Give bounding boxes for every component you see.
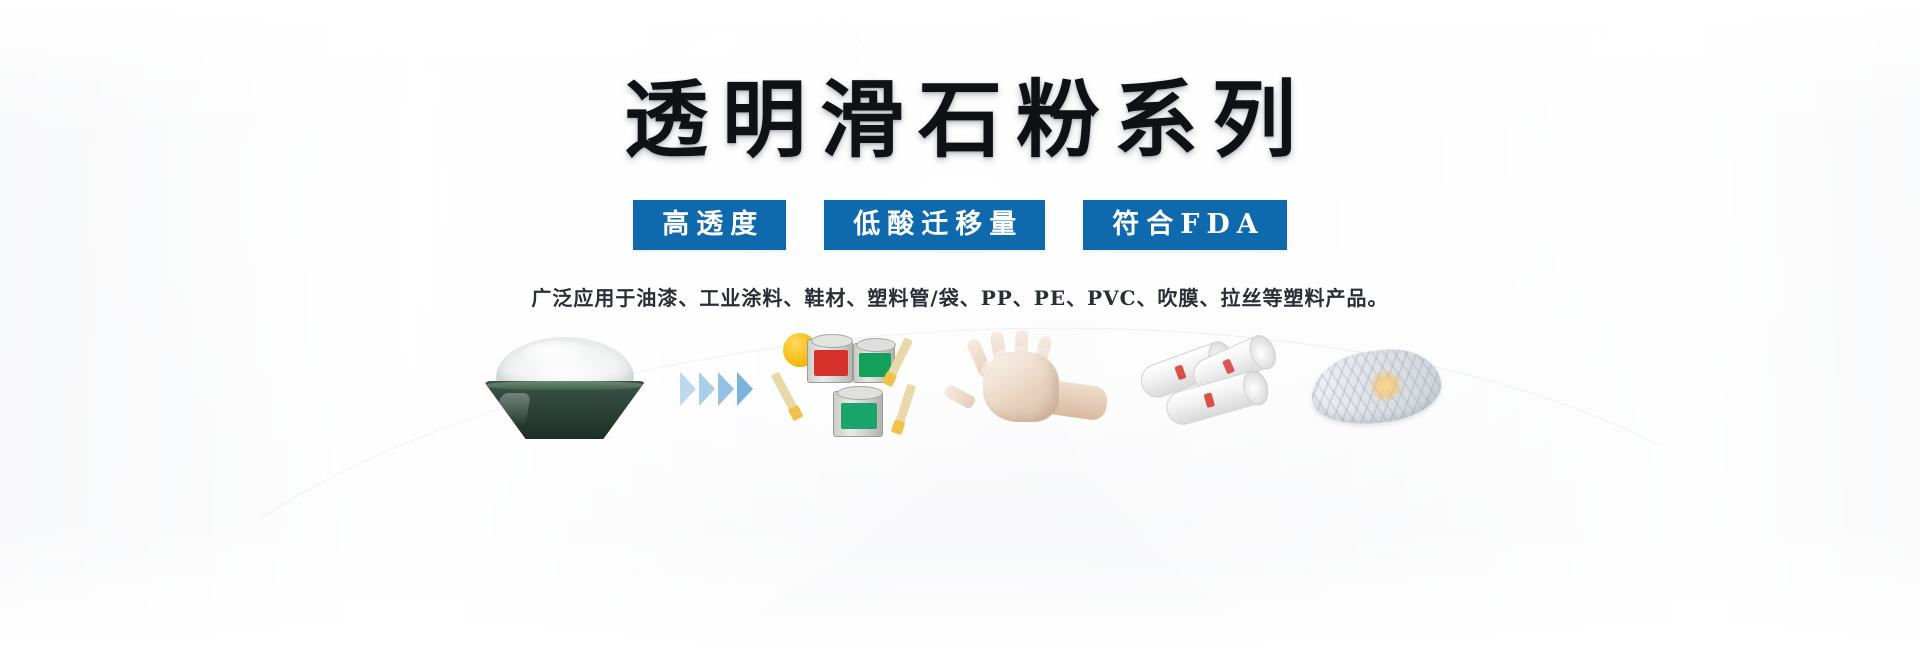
chevron-right-icon	[718, 372, 734, 406]
shoe-sole-image	[1311, 337, 1441, 441]
chevron-right-icon	[699, 372, 715, 406]
paint-cans-image	[783, 333, 933, 445]
feature-badge-high-transparency: 高透度	[633, 200, 786, 250]
banner-title: 透明滑石粉系列	[610, 78, 1310, 162]
glove-sheen	[979, 346, 1069, 420]
paint-can-red	[807, 339, 853, 383]
banner-content: 透明滑石粉系列 高透度 低酸迁移量 符合FDA 广泛应用于油漆、工业涂料、鞋材、…	[0, 0, 1920, 650]
sole-highlight	[1369, 371, 1403, 401]
process-arrows-icon	[676, 372, 757, 406]
paint-brush-icon	[770, 372, 797, 412]
paint-brush-icon	[895, 384, 916, 425]
talc-powder-bowl-image	[480, 335, 650, 443]
paint-can-teal	[833, 391, 883, 437]
feature-badge-fda-compliant: 符合FDA	[1083, 200, 1287, 250]
chevron-right-icon	[680, 372, 696, 406]
thumb	[942, 383, 976, 410]
product-banner: 透明滑石粉系列 高透度 低酸迁移量 符合FDA 广泛应用于油漆、工业涂料、鞋材、…	[0, 0, 1920, 650]
feature-badge-low-acid-migration: 低酸迁移量	[824, 200, 1045, 250]
green-dish	[484, 381, 646, 439]
film-rolls-image	[1135, 337, 1285, 441]
chevron-right-icon	[737, 372, 753, 406]
product-application-strip	[480, 329, 1441, 449]
gloved-hand-image	[959, 336, 1109, 442]
feature-badge-list: 高透度 低酸迁移量 符合FDA	[633, 200, 1287, 250]
banner-description: 广泛应用于油漆、工业涂料、鞋材、塑料管/袋、PP、PE、PVC、吹膜、拉丝等塑料…	[531, 282, 1388, 311]
